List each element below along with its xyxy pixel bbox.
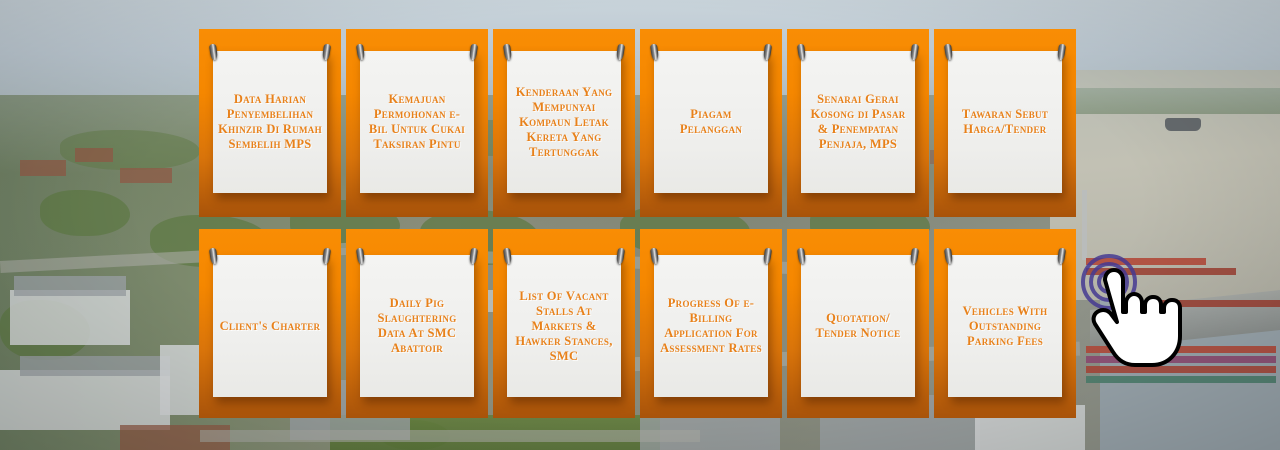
tile-label: Daily Pig Slaughtering Data At SMC Abatt… xyxy=(365,296,469,356)
pin-icon xyxy=(356,44,365,61)
tile-data-harian-penyembelihan[interactable]: Data Harian Penyembelihan Khinzir Di Rum… xyxy=(199,29,341,217)
tile-tawaran-sebut-harga-tender[interactable]: Tawaran Sebut Harga/Tender xyxy=(934,29,1076,217)
paper-card: Vehicles With Outstanding Parking Fees xyxy=(948,255,1062,397)
tile-label: Kemajuan Permohonan e-Bil Untuk Cukai Ta… xyxy=(365,92,469,152)
pin-icon xyxy=(797,248,806,265)
paper-card: Senarai Gerai Kosong di Pasar & Penempat… xyxy=(801,51,915,193)
pin-icon xyxy=(944,248,953,265)
pin-icon xyxy=(503,44,512,61)
tile-vehicles-with-outstanding-parking-fees[interactable]: Vehicles With Outstanding Parking Fees xyxy=(934,229,1076,418)
pin-icon xyxy=(469,248,478,265)
tile-senarai-gerai-kosong[interactable]: Senarai Gerai Kosong di Pasar & Penempat… xyxy=(787,29,929,217)
pin-icon xyxy=(322,44,331,61)
paper-card: Client's Charter xyxy=(213,255,327,397)
tile-piagam-pelanggan[interactable]: Piagam Pelanggan xyxy=(640,29,782,217)
tile-label: Data Harian Penyembelihan Khinzir Di Rum… xyxy=(218,92,322,152)
tile-quotation-tender-notice[interactable]: Quotation/ Tender Notice xyxy=(787,229,929,418)
pin-icon xyxy=(1057,248,1066,265)
pin-icon xyxy=(503,248,512,265)
tile-progress-of-ebilling-application[interactable]: Progress Of e-Billing Application For As… xyxy=(640,229,782,418)
tile-grid: Data Harian Penyembelihan Khinzir Di Rum… xyxy=(199,29,1081,418)
pin-icon xyxy=(763,44,772,61)
pin-icon xyxy=(356,248,365,265)
pin-icon xyxy=(209,44,218,61)
paper-card: Quotation/ Tender Notice xyxy=(801,255,915,397)
pin-icon xyxy=(469,44,478,61)
pin-icon xyxy=(944,44,953,61)
pin-icon xyxy=(910,248,919,265)
pin-icon xyxy=(322,248,331,265)
tile-label: Tawaran Sebut Harga/Tender xyxy=(953,107,1057,137)
tile-label: Vehicles With Outstanding Parking Fees xyxy=(953,304,1057,349)
tile-daily-pig-slaughtering-data[interactable]: Daily Pig Slaughtering Data At SMC Abatt… xyxy=(346,229,488,418)
paper-card: Kenderaan Yang Mempunyai Kompaun Letak K… xyxy=(507,51,621,193)
paper-card: Tawaran Sebut Harga/Tender xyxy=(948,51,1062,193)
paper-card: Data Harian Penyembelihan Khinzir Di Rum… xyxy=(213,51,327,193)
pin-icon xyxy=(797,44,806,61)
paper-card: Daily Pig Slaughtering Data At SMC Abatt… xyxy=(360,255,474,397)
paper-card: Piagam Pelanggan xyxy=(654,51,768,193)
tile-label: Client's Charter xyxy=(220,319,321,334)
tile-label: List Of Vacant Stalls At Markets & Hawke… xyxy=(512,289,616,364)
tile-label: Senarai Gerai Kosong di Pasar & Penempat… xyxy=(806,92,910,152)
paper-card: Progress Of e-Billing Application For As… xyxy=(654,255,768,397)
pin-icon xyxy=(1057,44,1066,61)
paper-card: List Of Vacant Stalls At Markets & Hawke… xyxy=(507,255,621,397)
pin-icon xyxy=(209,248,218,265)
pin-icon xyxy=(616,248,625,265)
paper-card: Kemajuan Permohonan e-Bil Untuk Cukai Ta… xyxy=(360,51,474,193)
pin-icon xyxy=(650,44,659,61)
tile-label: Kenderaan Yang Mempunyai Kompaun Letak K… xyxy=(512,85,616,160)
tile-label: Quotation/ Tender Notice xyxy=(806,311,910,341)
pin-icon xyxy=(910,44,919,61)
tile-clients-charter[interactable]: Client's Charter xyxy=(199,229,341,418)
tile-label: Piagam Pelanggan xyxy=(659,107,763,137)
tile-kenderaan-kompaun-letak-kereta[interactable]: Kenderaan Yang Mempunyai Kompaun Letak K… xyxy=(493,29,635,217)
pin-icon xyxy=(650,248,659,265)
pin-icon xyxy=(763,248,772,265)
pin-icon xyxy=(616,44,625,61)
tile-kemajuan-permohonan-ebil[interactable]: Kemajuan Permohonan e-Bil Untuk Cukai Ta… xyxy=(346,29,488,217)
tile-label: Progress Of e-Billing Application For As… xyxy=(659,296,763,356)
tile-list-of-vacant-stalls[interactable]: List Of Vacant Stalls At Markets & Hawke… xyxy=(493,229,635,418)
